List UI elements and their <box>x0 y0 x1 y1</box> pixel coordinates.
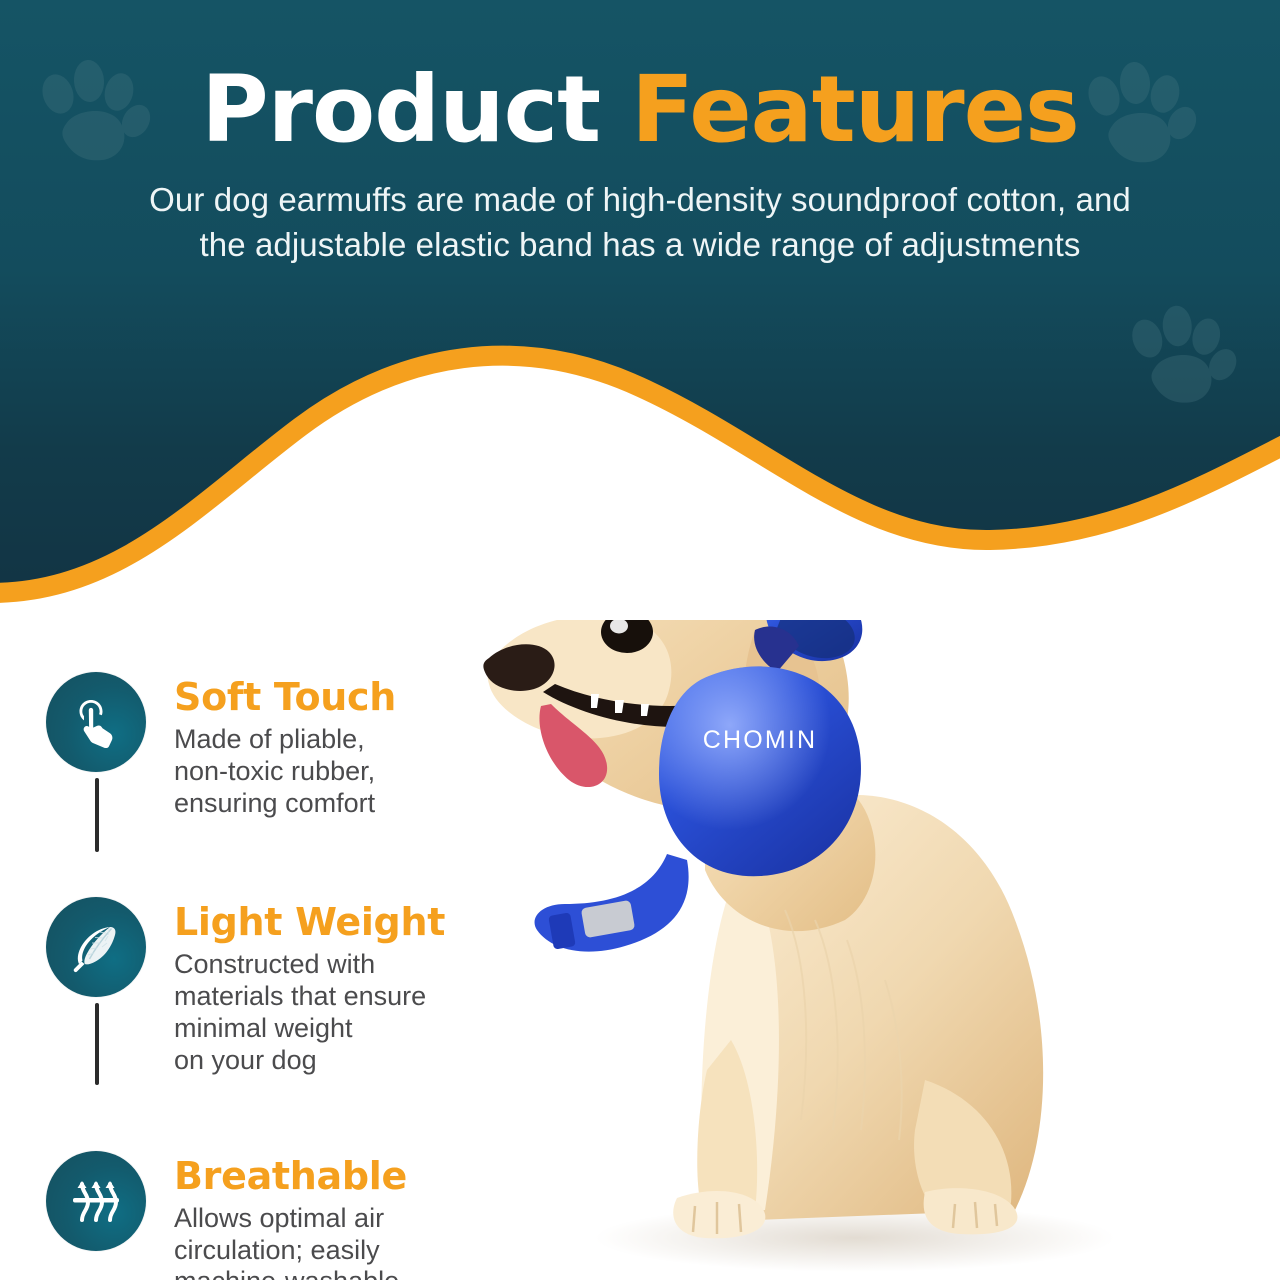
title-part-product: Product <box>201 56 631 163</box>
feature-description: Allows optimal air circulation; easily m… <box>174 1203 407 1280</box>
feature-description: Made of pliable, non-toxic rubber, ensur… <box>174 724 396 820</box>
feature-desc-line: Made of pliable, <box>174 724 396 756</box>
feature-title: Soft Touch <box>174 678 396 718</box>
feature-item-soft-touch[interactable]: Soft Touch Made of pliable, non-toxic ru… <box>46 672 566 819</box>
feature-text: Breathable Allows optimal air circulatio… <box>174 1151 407 1280</box>
feature-desc-line: on your dog <box>174 1045 445 1077</box>
feature-list: Soft Touch Made of pliable, non-toxic ru… <box>46 672 566 1280</box>
feature-text: Soft Touch Made of pliable, non-toxic ru… <box>174 672 396 819</box>
feature-desc-line: Constructed with <box>174 949 445 981</box>
feature-desc-line: Allows optimal air <box>174 1203 407 1235</box>
feather-icon <box>68 919 124 975</box>
feature-connector-line <box>95 778 99 852</box>
page-subtitle: Our dog earmuffs are made of high-densit… <box>50 178 1230 267</box>
feature-desc-line: non-toxic rubber, <box>174 756 396 788</box>
title-part-features: Features <box>631 56 1079 163</box>
feature-description: Constructed with materials that ensure m… <box>174 949 445 1076</box>
airflow-arrowheads <box>78 1181 115 1188</box>
feature-icon-badge <box>46 1151 146 1251</box>
feature-spacer <box>46 1077 566 1151</box>
airflow-ventilation-icon <box>69 1174 123 1228</box>
subtitle-line-1: Our dog earmuffs are made of high-densit… <box>50 178 1230 223</box>
infographic-canvas: Product Features Our dog earmuffs are ma… <box>0 0 1280 1280</box>
feature-icon-column <box>46 1151 174 1251</box>
feature-item-breathable[interactable]: Breathable Allows optimal air circulatio… <box>46 1151 566 1280</box>
feature-icon-badge <box>46 897 146 997</box>
dog-eye-highlight <box>610 619 628 634</box>
feature-icon-column <box>46 672 174 772</box>
feature-title: Light Weight <box>174 903 445 943</box>
feature-connector-line <box>95 1003 99 1085</box>
feature-icon-column <box>46 897 174 997</box>
earmuff-cup-highlight <box>659 666 861 876</box>
feature-icon-badge <box>46 672 146 772</box>
feature-desc-line: minimal weight <box>174 1013 445 1045</box>
feature-desc-line: machine-washable <box>174 1266 407 1280</box>
feature-title: Breathable <box>174 1157 407 1197</box>
page-title: Product Features <box>0 62 1280 159</box>
wave-divider <box>0 290 1280 620</box>
subtitle-line-2: the adjustable elastic band has a wide r… <box>50 223 1230 268</box>
feature-text: Light Weight Constructed with materials … <box>174 897 445 1076</box>
feature-desc-line: materials that ensure <box>174 981 445 1013</box>
brand-label: CHOMIN <box>703 726 818 754</box>
feature-desc-line: ensuring comfort <box>174 788 396 820</box>
hand-tap-icon <box>71 696 121 748</box>
feature-spacer <box>46 819 566 897</box>
feature-desc-line: circulation; easily <box>174 1235 407 1267</box>
feature-item-light-weight[interactable]: Light Weight Constructed with materials … <box>46 897 566 1076</box>
airflow-bar <box>73 1198 119 1203</box>
